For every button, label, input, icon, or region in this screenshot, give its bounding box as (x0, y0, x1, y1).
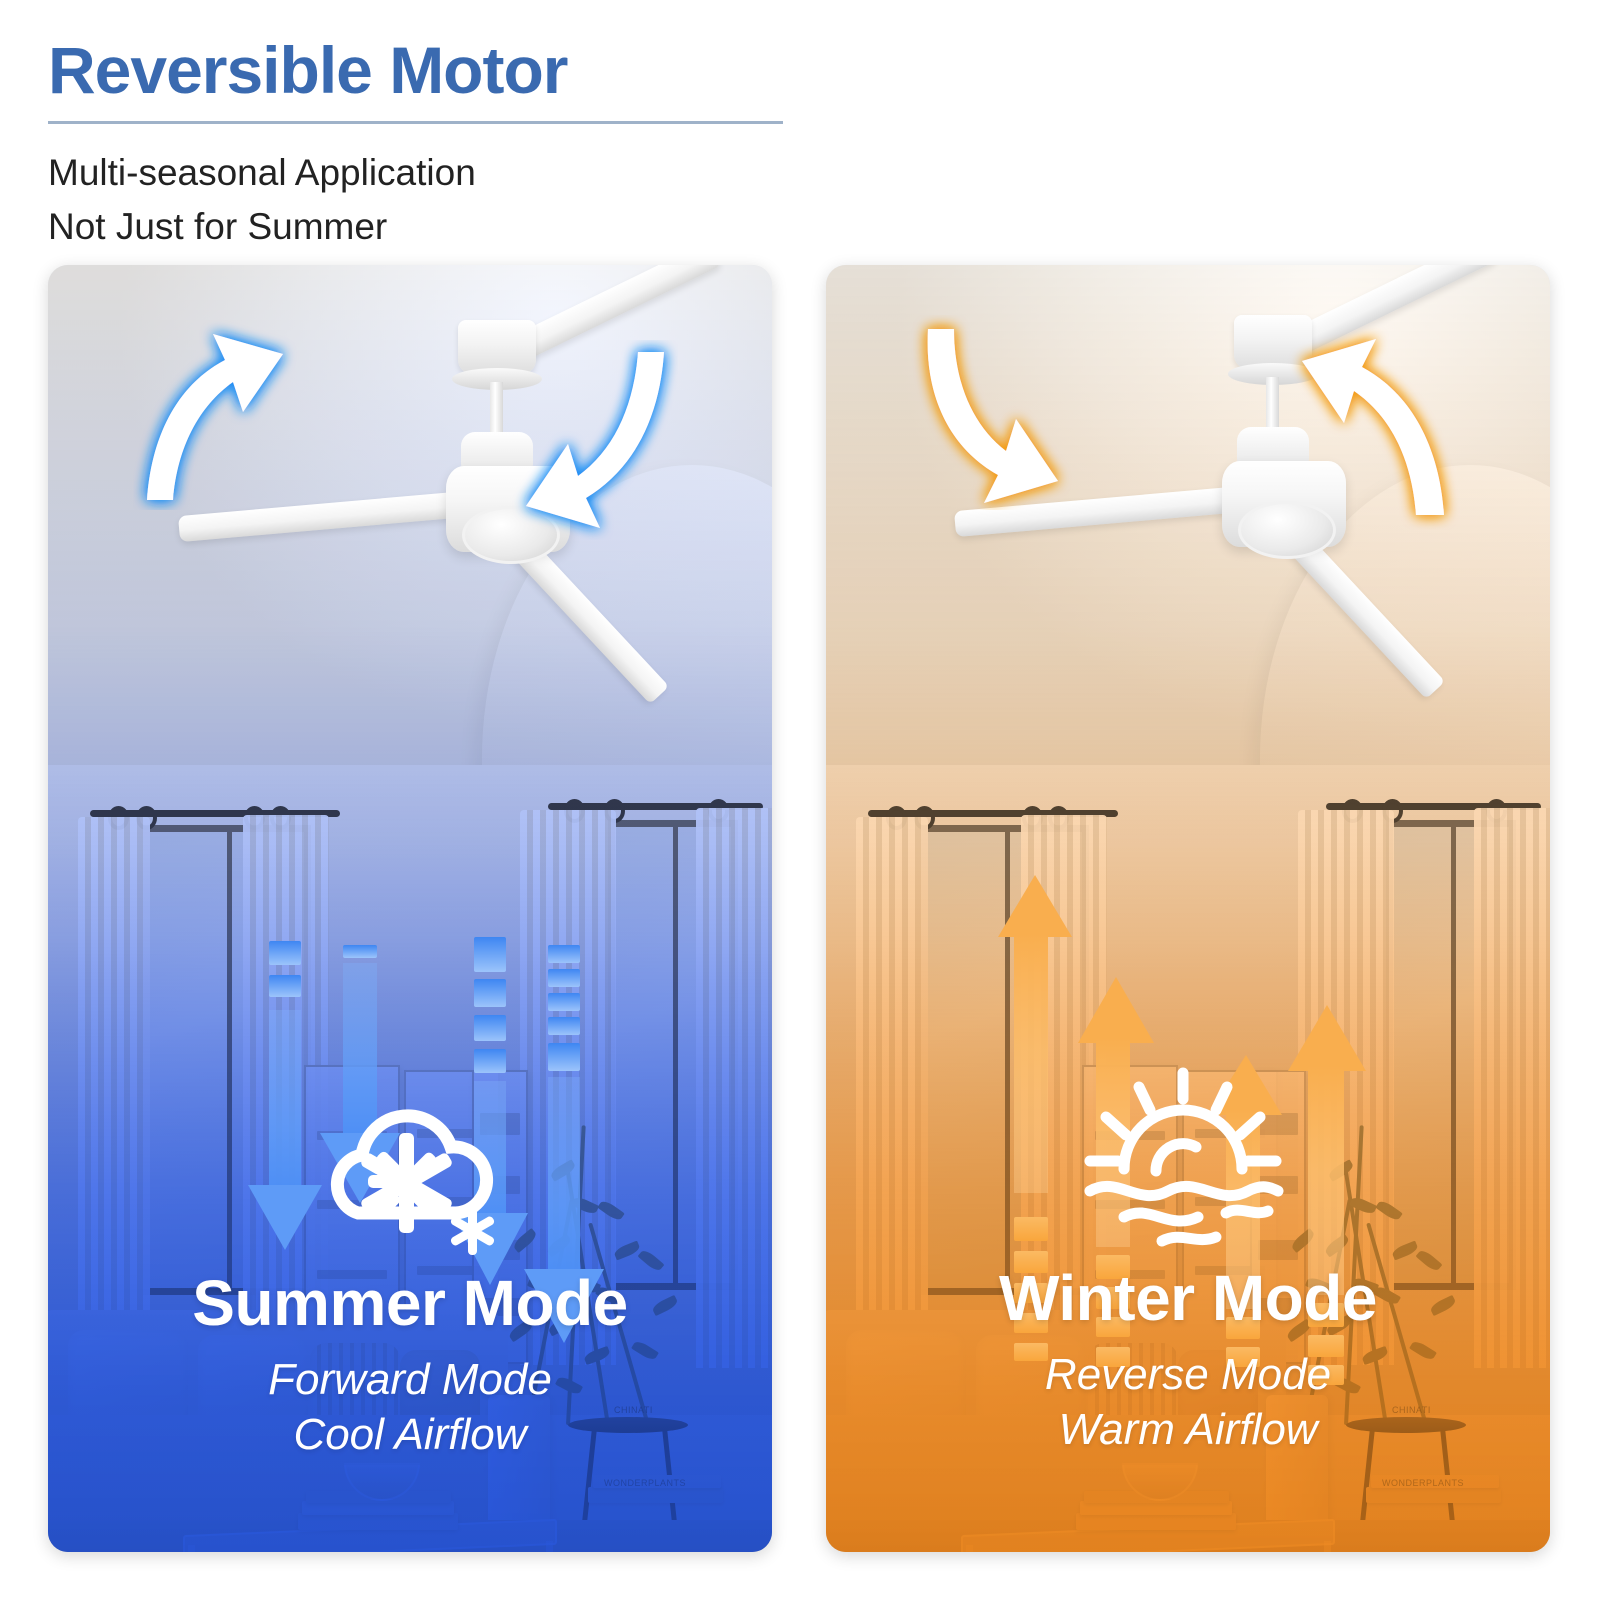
header: Reversible Motor Multi-seasonal Applicat… (48, 36, 788, 254)
panel-summer-mode[interactable]: WONDERPLANTS CHINATI (48, 265, 772, 1552)
subtitle-line-2: Not Just for Summer (48, 200, 788, 254)
panel-winter-mode[interactable]: WONDERPLANTS CHINATI (826, 265, 1550, 1552)
mode-title: Winter Mode (826, 1265, 1550, 1333)
curved-arrow-up-left-icon (133, 320, 333, 510)
curved-arrow-down-left-icon (468, 340, 678, 540)
title-divider (48, 121, 783, 124)
sunrise-icon (1076, 1065, 1291, 1250)
mode-sub-line-1: Forward Mode (48, 1352, 772, 1407)
subtitle-line-1: Multi-seasonal Application (48, 146, 788, 200)
page-title: Reversible Motor (48, 36, 788, 105)
curved-arrow-down-right-icon (906, 315, 1106, 510)
mode-sub-line-2: Warm Airflow (826, 1402, 1550, 1457)
mode-title: Summer Mode (48, 1270, 772, 1338)
caption-summer: Summer Mode Forward Mode Cool Airflow (48, 1270, 772, 1462)
mode-sub-line-2: Cool Airflow (48, 1407, 772, 1462)
caption-winter: Winter Mode Reverse Mode Warm Airflow (826, 1265, 1550, 1457)
subtitle: Multi-seasonal Application Not Just for … (48, 146, 788, 253)
cloud-snow-icon (306, 1085, 516, 1260)
curved-arrow-up-right-icon (1246, 325, 1461, 530)
mode-sub-line-1: Reverse Mode (826, 1347, 1550, 1402)
